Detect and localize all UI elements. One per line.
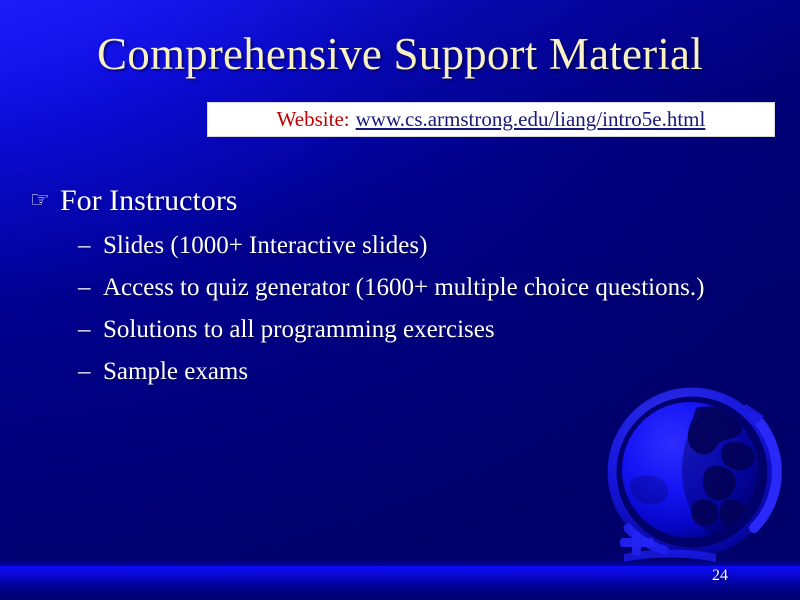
list-item-label: Access to quiz generator (1600+ multiple… xyxy=(103,270,738,306)
list-item-label: Slides (1000+ Interactive slides) xyxy=(103,228,738,264)
list-item: – Slides (1000+ Interactive slides) xyxy=(30,228,770,264)
presentation-slide: Comprehensive Support Material Website: … xyxy=(0,0,800,600)
dash-marker-icon: – xyxy=(78,354,103,390)
pointing-hand-icon: ☞ xyxy=(30,182,60,220)
website-url-link[interactable]: www.cs.armstrong.edu/liang/intro5e.html xyxy=(356,108,706,131)
website-callout-box: Website: www.cs.armstrong.edu/liang/intr… xyxy=(207,102,775,137)
list-item-label: Solutions to all programming exercises xyxy=(103,312,738,348)
bullet-level2-list: – Slides (1000+ Interactive slides) – Ac… xyxy=(30,228,770,390)
slide-number: 24 xyxy=(712,566,752,586)
bullet-level1-for-instructors: ☞ For Instructors xyxy=(30,182,770,220)
slide-title: Comprehensive Support Material xyxy=(0,28,800,80)
dash-marker-icon: – xyxy=(78,270,103,306)
bullet-level1-label: For Instructors xyxy=(60,182,770,220)
list-item: – Solutions to all programming exercises xyxy=(30,312,770,348)
list-item: – Sample exams xyxy=(30,354,770,390)
list-item-label: Sample exams xyxy=(103,354,738,390)
slide-bottom-band xyxy=(0,566,800,600)
dash-marker-icon: – xyxy=(78,312,103,348)
list-item: – Access to quiz generator (1600+ multip… xyxy=(30,270,770,306)
dash-marker-icon: – xyxy=(78,228,103,264)
slide-body: ☞ For Instructors – Slides (1000+ Intera… xyxy=(30,182,770,396)
website-label: Website: xyxy=(277,108,350,131)
